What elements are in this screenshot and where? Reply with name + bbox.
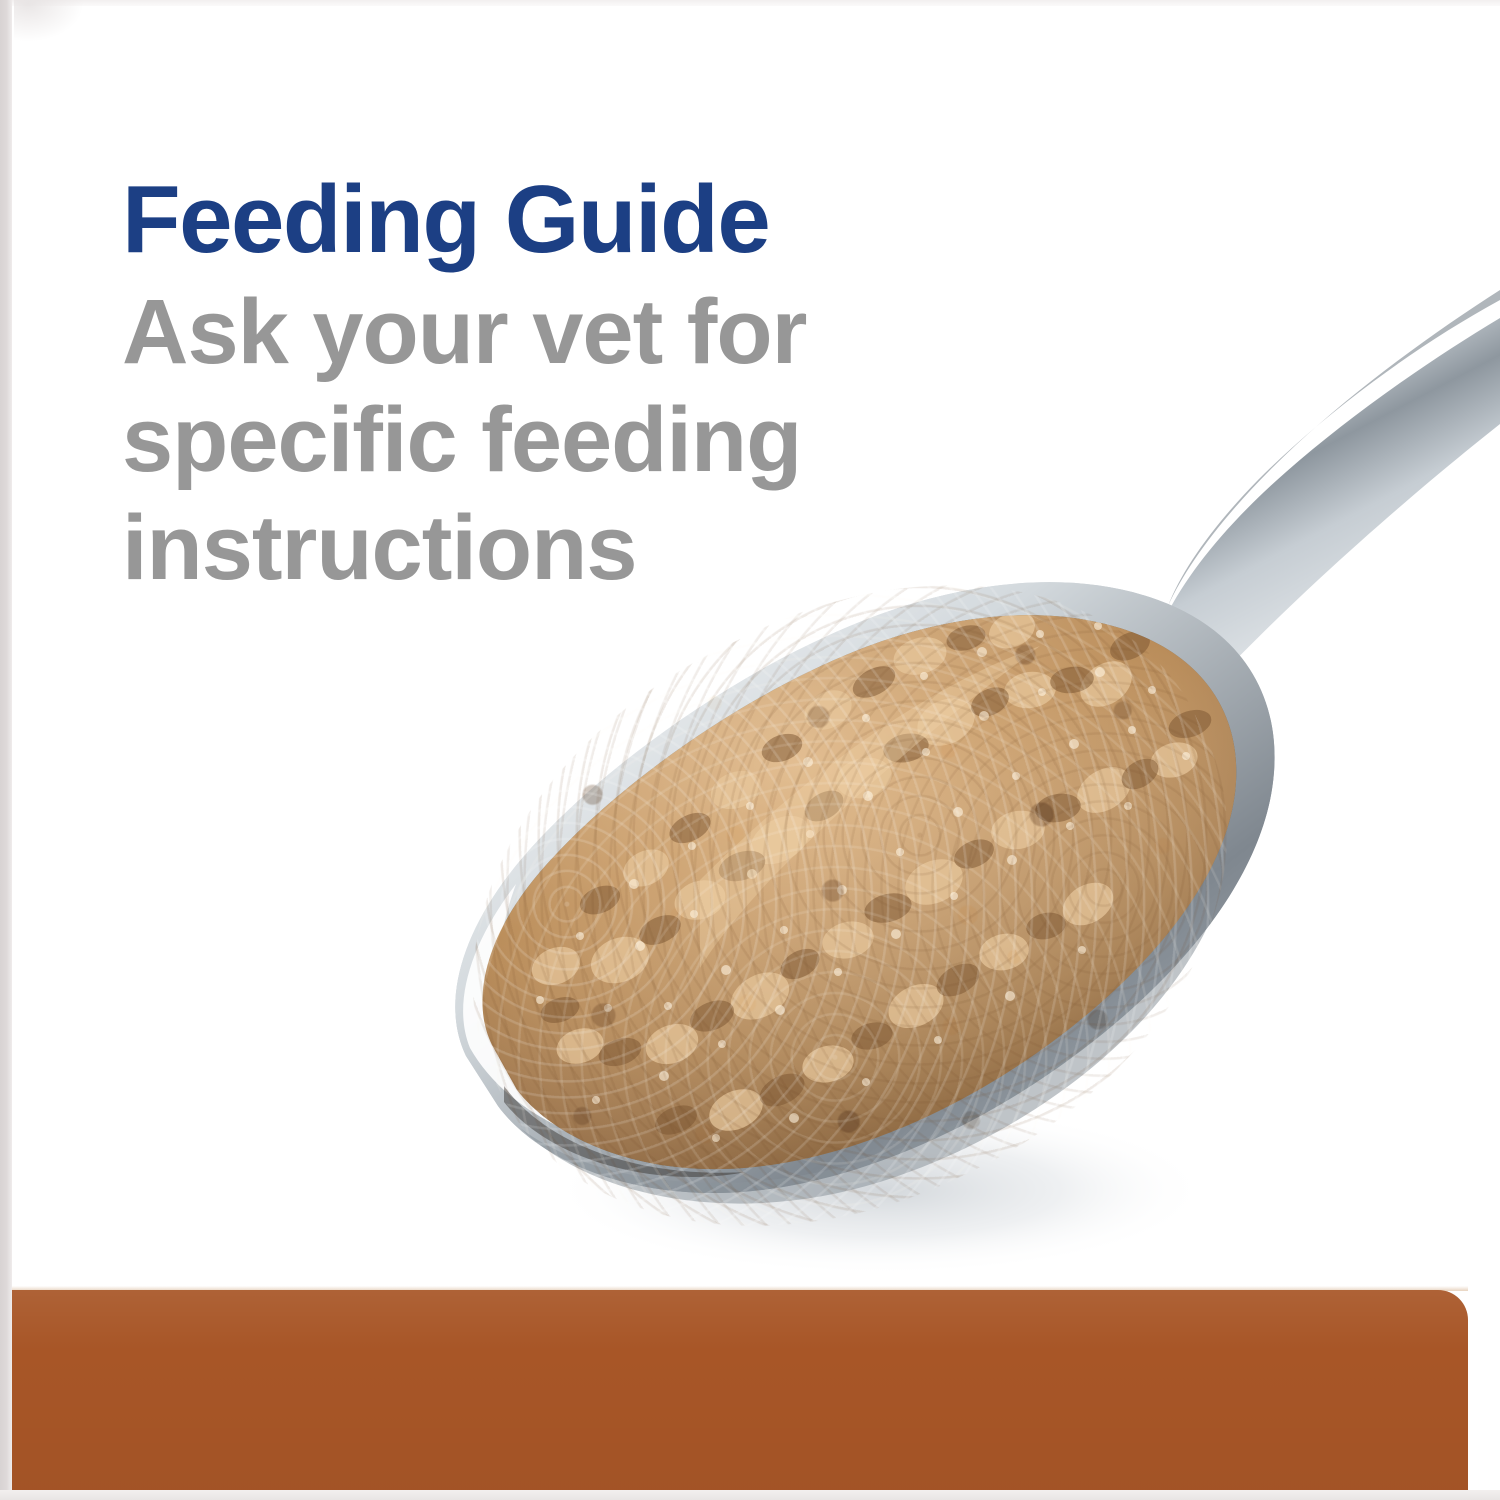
feeding-guide-copy-block: Feeding Guide Ask your vet for specific … <box>122 168 1022 602</box>
spoon-handle <box>1148 196 1500 724</box>
food-fine-grain-overlay <box>368 474 1332 1342</box>
spoon-handle-crease <box>1168 290 1500 606</box>
bottom-brand-band <box>12 1290 1468 1490</box>
brown-band-sheen <box>12 1290 1468 1490</box>
subline-2: specific feeding <box>122 386 1022 494</box>
subline-3: instructions <box>122 494 1022 602</box>
top-left-corner-glow <box>14 0 84 42</box>
subline-1: Ask your vet for <box>122 278 1022 386</box>
left-edge-strip <box>0 0 12 1500</box>
page-title: Feeding Guide <box>122 168 1022 272</box>
product-feeding-guide-panel: Feeding Guide Ask your vet for specific … <box>0 0 1500 1500</box>
spoon-handle-highlight <box>1158 232 1500 552</box>
top-edge-strip <box>12 0 1500 6</box>
bottom-edge-strip <box>0 1490 1500 1500</box>
feeding-instructions-text: Ask your vet for specific feeding instru… <box>122 272 1022 602</box>
